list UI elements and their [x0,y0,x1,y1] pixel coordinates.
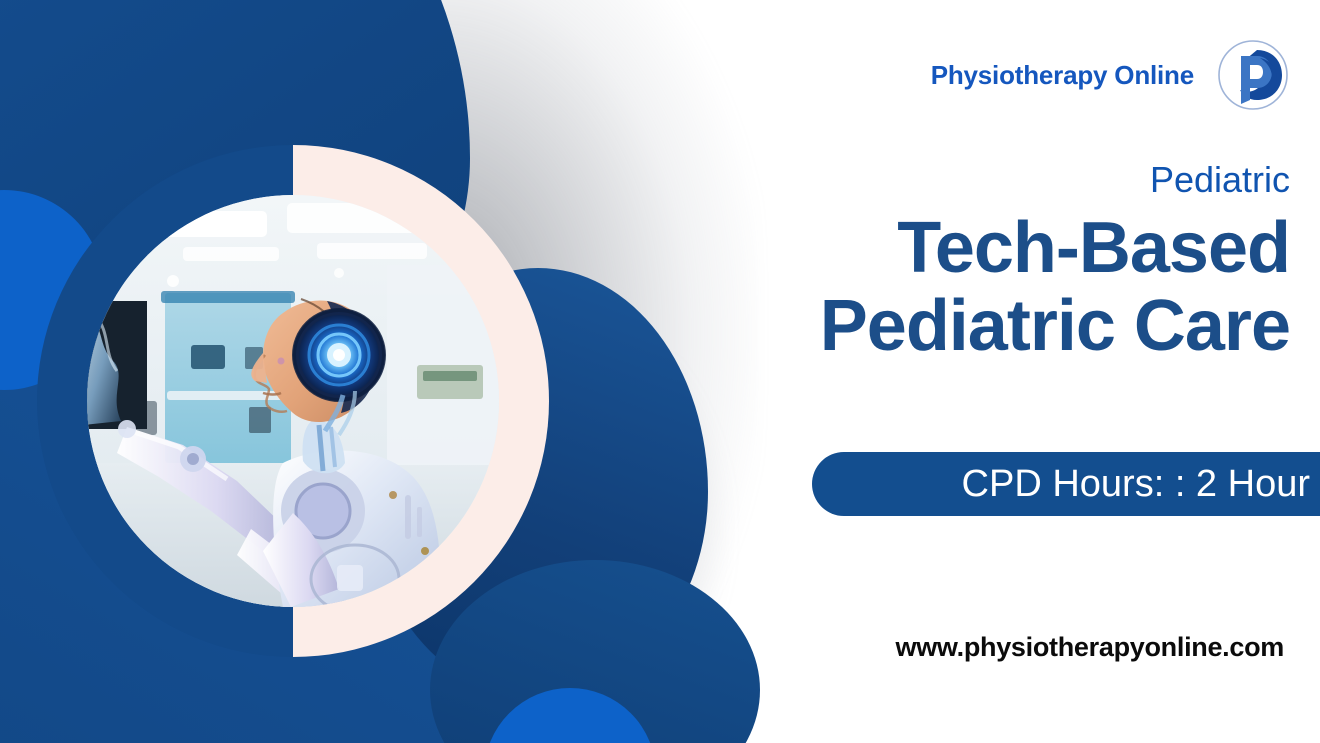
physiotherapy-p-monogram-icon [1216,38,1290,112]
brand-logo[interactable]: Physiotherapy Online [931,38,1290,112]
website-url[interactable]: www.physiotherapyonline.com [896,632,1284,663]
hero-photo [87,195,499,607]
brand-name: Physiotherapy Online [931,60,1194,91]
title-line-2: Pediatric Care [820,288,1290,366]
promo-banner: Physiotherapy Online Pediatric Tech-Base… [0,0,1320,743]
cpd-hours-badge: CPD Hours: : 2 Hour [812,452,1320,516]
robot-hospital-illustration [87,195,499,607]
cpd-hours-label: CPD Hours: : 2 Hour [962,463,1310,506]
page-title: Tech-Based Pediatric Care [820,210,1290,366]
category-label: Pediatric [1150,161,1290,199]
title-line-1: Tech-Based [820,210,1290,288]
